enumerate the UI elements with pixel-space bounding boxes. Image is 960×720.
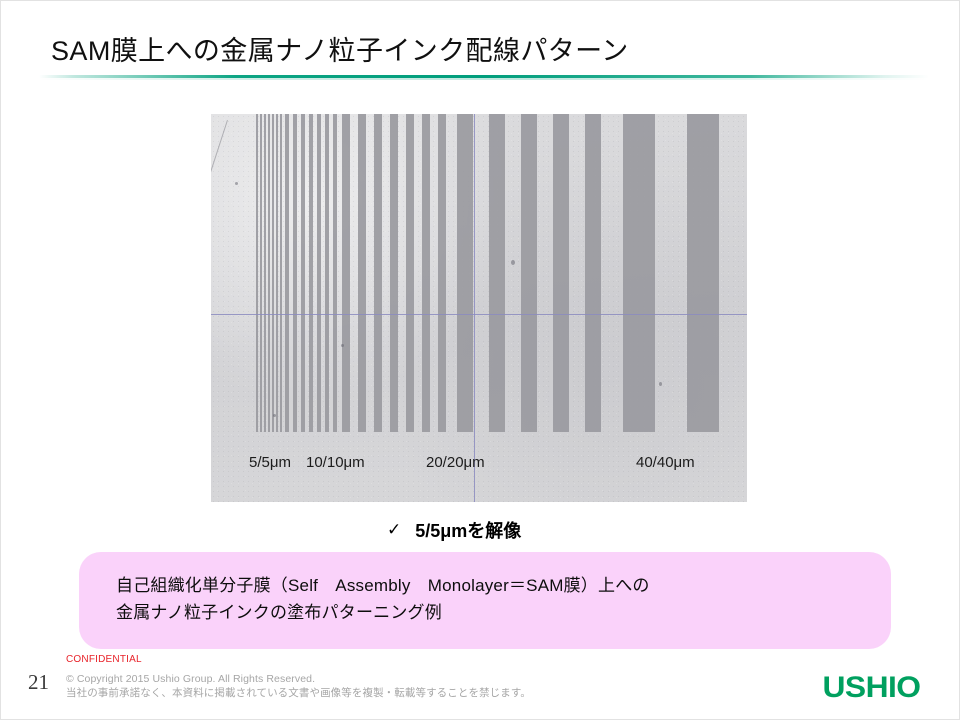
- pattern-line: [390, 114, 398, 432]
- scale-label-40um: 40/40μm: [636, 454, 695, 471]
- pattern-line: [489, 114, 505, 432]
- pattern-line: [333, 114, 337, 432]
- pattern-line: [457, 114, 473, 432]
- substrate-speck: [273, 414, 276, 417]
- pattern-line: [260, 114, 262, 432]
- pattern-line: [256, 114, 258, 432]
- pattern-line: [406, 114, 414, 432]
- substrate-speck: [235, 182, 238, 185]
- resolution-check-label: 5/5μmを解像: [415, 517, 521, 543]
- description-callout-text: 自己組織化単分子膜（Self Assembly Monolayer＝SAM膜）上…: [116, 572, 650, 626]
- pattern-line: [268, 114, 270, 432]
- pattern-line: [309, 114, 313, 432]
- scale-label-row: 5/5μm 10/10μm 20/20μm 40/40μm: [211, 454, 747, 484]
- scale-label-10um: 10/10μm: [306, 454, 365, 471]
- scale-label-5um: 5/5μm: [249, 454, 291, 471]
- line-pattern-group: [211, 114, 747, 432]
- ushio-logo: USHIO: [823, 671, 921, 705]
- micrograph-image: 5/5μm 10/10μm 20/20μm 40/40μm: [211, 114, 747, 502]
- pattern-line: [325, 114, 329, 432]
- crosshair-vertical: [474, 114, 475, 502]
- pattern-line: [374, 114, 382, 432]
- slide-root: SAM膜上への金属ナノ粒子インク配線パターン 5/5μm 10/10μm 20/…: [0, 0, 960, 720]
- pattern-line: [285, 114, 289, 432]
- pattern-line: [293, 114, 297, 432]
- pattern-line: [280, 114, 282, 432]
- pattern-line: [301, 114, 305, 432]
- pattern-line: [553, 114, 569, 432]
- pattern-line: [276, 114, 278, 432]
- description-callout: 自己組織化単分子膜（Self Assembly Monolayer＝SAM膜）上…: [79, 552, 891, 649]
- pattern-line: [342, 114, 350, 432]
- page-number: 21: [28, 670, 49, 695]
- copyright-notice: © Copyright 2015 Ushio Group. All Rights…: [66, 672, 531, 700]
- pattern-line: [521, 114, 537, 432]
- pattern-line: [272, 114, 274, 432]
- crosshair-horizontal: [211, 314, 747, 315]
- substrate-speck: [659, 382, 662, 386]
- confidential-label: CONFIDENTIAL: [66, 654, 142, 665]
- title-divider-shadow: [39, 78, 929, 80]
- pattern-line: [623, 114, 655, 432]
- scale-label-20um: 20/20μm: [426, 454, 485, 471]
- page-title: SAM膜上への金属ナノ粒子インク配線パターン: [51, 29, 629, 68]
- pattern-line: [264, 114, 266, 432]
- pattern-line: [438, 114, 446, 432]
- pattern-line: [422, 114, 430, 432]
- resolution-check-item: ✓ 5/5μmを解像: [387, 517, 521, 543]
- pattern-line: [317, 114, 321, 432]
- substrate-speck: [511, 260, 515, 265]
- pattern-line: [585, 114, 601, 432]
- pattern-line: [358, 114, 366, 432]
- pattern-line: [687, 114, 719, 432]
- substrate-speck: [341, 344, 344, 347]
- check-icon: ✓: [387, 520, 401, 540]
